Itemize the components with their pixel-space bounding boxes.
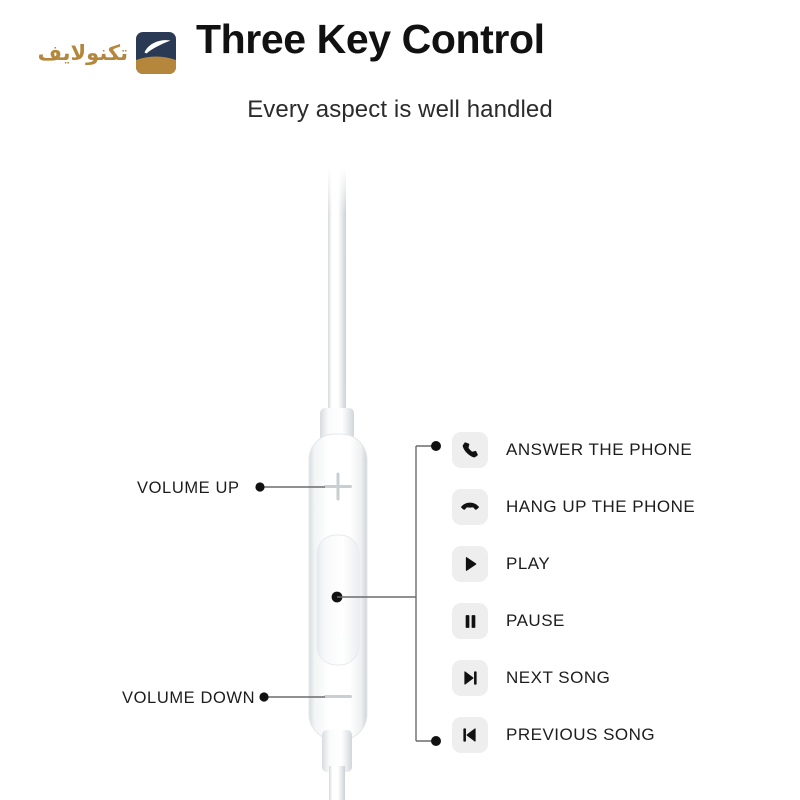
control-functions-legend: ANSWER THE PHONE HANG UP THE PHONE PLAY … (452, 432, 772, 774)
brand-logo: تکنولایف (18, 22, 178, 84)
phone-hangup-icon (452, 489, 488, 525)
volume-up-plus-glyph[interactable] (324, 473, 352, 501)
legend-item-hang-up-phone: HANG UP THE PHONE (452, 489, 772, 525)
volume-down-minus-glyph[interactable] (324, 695, 352, 698)
legend-label-next-song: NEXT SONG (506, 668, 610, 688)
earphone-cable-lower (322, 730, 352, 800)
legend-label-previous-song: PREVIOUS SONG (506, 725, 655, 745)
inline-remote-body (309, 434, 367, 740)
legend-label-hang-up-phone: HANG UP THE PHONE (506, 497, 695, 517)
phone-icon (452, 432, 488, 468)
callout-volume-up: VOLUME UP (137, 478, 240, 498)
legend-label-play: PLAY (506, 554, 550, 574)
legend-label-pause: PAUSE (506, 611, 565, 631)
page-subtitle: Every aspect is well handled (0, 96, 800, 124)
legend-label-answer-phone: ANSWER THE PHONE (506, 440, 692, 460)
legend-item-play: PLAY (452, 546, 772, 582)
legend-item-previous-song: PREVIOUS SONG (452, 717, 772, 753)
next-track-icon (452, 660, 488, 696)
leader-bracket-center-button (332, 441, 441, 746)
callout-volume-down-label: VOLUME DOWN (122, 689, 255, 708)
page-title: Three Key Control (196, 16, 545, 63)
callout-volume-down: VOLUME DOWN (122, 688, 255, 708)
earphone-cable-upper (320, 168, 354, 448)
leader-line-volume-down (259, 692, 325, 701)
legend-item-next-song: NEXT SONG (452, 660, 772, 696)
technolife-logo-icon (134, 29, 178, 77)
play-icon (452, 546, 488, 582)
pause-icon (452, 603, 488, 639)
callout-volume-up-label: VOLUME UP (137, 479, 240, 498)
legend-item-answer-phone: ANSWER THE PHONE (452, 432, 772, 468)
leader-line-volume-up (255, 482, 325, 491)
previous-track-icon (452, 717, 488, 753)
legend-item-pause: PAUSE (452, 603, 772, 639)
brand-wordmark: تکنولایف (38, 43, 128, 64)
